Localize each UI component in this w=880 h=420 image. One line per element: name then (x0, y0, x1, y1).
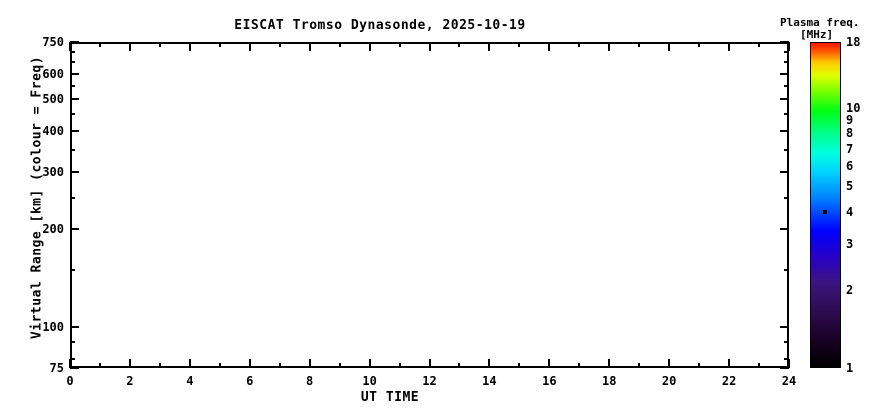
x-tick-minor-top (339, 42, 341, 47)
x-tick-label: 24 (769, 374, 809, 388)
y-tick-label: 500 (4, 92, 64, 106)
x-axis-label: UT TIME (250, 390, 530, 405)
y-tick-major (70, 130, 79, 132)
x-tick-minor (159, 363, 161, 368)
y-tick-minor-right (784, 341, 789, 343)
y-tick-minor-right (784, 113, 789, 115)
y-tick-major (70, 228, 79, 230)
y-tick-label: 750 (4, 35, 64, 49)
x-tick-minor (578, 363, 580, 368)
x-tick-label: 20 (649, 374, 689, 388)
x-tick-label: 2 (110, 374, 150, 388)
x-tick-minor-top (458, 42, 460, 47)
y-tick-major-right (780, 130, 789, 132)
x-tick-major (608, 359, 610, 368)
x-tick-major (369, 359, 371, 368)
y-tick-minor-right (784, 269, 789, 271)
x-tick-major-top (369, 42, 371, 51)
y-tick-major (70, 171, 79, 173)
x-tick-minor (698, 363, 700, 368)
y-tick-minor-right (784, 197, 789, 199)
y-tick-label: 300 (4, 165, 64, 179)
colorbar-tick-label: 18 (846, 35, 860, 49)
y-tick-minor (70, 269, 75, 271)
x-tick-major (788, 359, 790, 368)
y-tick-minor (70, 51, 75, 53)
y-tick-minor (70, 197, 75, 199)
x-tick-minor-top (279, 42, 281, 47)
y-tick-major-right (780, 326, 789, 328)
colorbar-title-line2: [MHz] (800, 28, 833, 41)
x-tick-major (129, 359, 131, 368)
x-tick-minor-top (758, 42, 760, 47)
y-axis-label: Virtual Range [km] (colour = Freq) (30, 33, 45, 363)
y-tick-major (70, 367, 79, 369)
colorbar-tick-label: 7 (846, 142, 853, 156)
x-tick-label: 10 (350, 374, 390, 388)
x-tick-major (189, 359, 191, 368)
x-tick-major-top (129, 42, 131, 51)
y-tick-label: 400 (4, 124, 64, 138)
page-title: EISCAT Tromso Dynasonde, 2025-10-19 (0, 18, 760, 33)
x-tick-label: 4 (170, 374, 210, 388)
x-tick-minor (279, 363, 281, 368)
y-tick-major-right (780, 98, 789, 100)
x-tick-major-top (668, 42, 670, 51)
y-tick-major-right (780, 228, 789, 230)
x-tick-minor (339, 363, 341, 368)
y-tick-label: 200 (4, 222, 64, 236)
x-tick-major-top (249, 42, 251, 51)
y-tick-major (70, 41, 79, 43)
x-tick-minor-top (638, 42, 640, 47)
x-tick-minor-top (578, 42, 580, 47)
x-tick-minor (518, 363, 520, 368)
y-tick-major (70, 326, 79, 328)
y-tick-minor (70, 149, 75, 151)
colorbar-tick-label: 6 (846, 159, 853, 173)
y-tick-minor (70, 61, 75, 63)
x-tick-major (668, 359, 670, 368)
x-tick-minor (99, 363, 101, 368)
x-tick-label: 0 (50, 374, 90, 388)
y-tick-minor (70, 113, 75, 115)
x-tick-major-top (728, 42, 730, 51)
x-tick-major-top (429, 42, 431, 51)
x-tick-minor-top (399, 42, 401, 47)
x-tick-major (309, 359, 311, 368)
x-tick-major (548, 359, 550, 368)
colorbar-tick-label: 3 (846, 237, 853, 251)
x-tick-minor (758, 363, 760, 368)
x-tick-label: 16 (529, 374, 569, 388)
x-tick-major (249, 359, 251, 368)
colorbar-tick-label: 5 (846, 179, 853, 193)
y-tick-minor (70, 85, 75, 87)
y-tick-minor (70, 341, 75, 343)
y-tick-minor-right (784, 51, 789, 53)
x-tick-label: 8 (290, 374, 330, 388)
x-tick-major-top (608, 42, 610, 51)
x-tick-label: 22 (709, 374, 749, 388)
y-tick-minor-right (784, 149, 789, 151)
colorbar-tick-label: 4 (846, 205, 853, 219)
x-tick-label: 12 (410, 374, 450, 388)
colorbar-tick-label: 8 (846, 126, 853, 140)
x-tick-label: 14 (469, 374, 509, 388)
x-tick-major (728, 359, 730, 368)
y-tick-major (70, 73, 79, 75)
x-tick-minor-top (518, 42, 520, 47)
y-tick-label: 600 (4, 67, 64, 81)
plot-frame (70, 42, 789, 368)
x-tick-minor-top (698, 42, 700, 47)
y-tick-label: 75 (4, 361, 64, 375)
x-tick-major-top (488, 42, 490, 51)
y-tick-label: 100 (4, 320, 64, 334)
x-tick-major (69, 359, 71, 368)
x-tick-label: 18 (589, 374, 629, 388)
colorbar-tick-label: 1 (846, 361, 853, 375)
x-tick-minor (399, 363, 401, 368)
y-tick-major (70, 98, 79, 100)
x-tick-minor-top (159, 42, 161, 47)
x-tick-major-top (69, 42, 71, 51)
x-tick-minor (219, 363, 221, 368)
x-tick-label: 6 (230, 374, 270, 388)
y-tick-minor-right (784, 61, 789, 63)
x-tick-major-top (189, 42, 191, 51)
x-tick-major-top (309, 42, 311, 51)
colorbar-tick-label: 2 (846, 283, 853, 297)
x-tick-minor-top (219, 42, 221, 47)
x-tick-minor (638, 363, 640, 368)
x-tick-major (429, 359, 431, 368)
x-tick-major (488, 359, 490, 368)
dynasonde-plot: EISCAT Tromso Dynasonde, 2025-10-19 Virt… (0, 0, 880, 420)
x-tick-minor-top (99, 42, 101, 47)
colorbar-marker (823, 210, 827, 214)
x-tick-major-top (788, 42, 790, 51)
x-tick-minor (458, 363, 460, 368)
y-tick-major-right (780, 171, 789, 173)
colorbar-tick-label: 10 (846, 101, 860, 115)
colorbar (810, 42, 841, 368)
y-tick-minor-right (784, 85, 789, 87)
y-tick-major-right (780, 73, 789, 75)
x-tick-major-top (548, 42, 550, 51)
